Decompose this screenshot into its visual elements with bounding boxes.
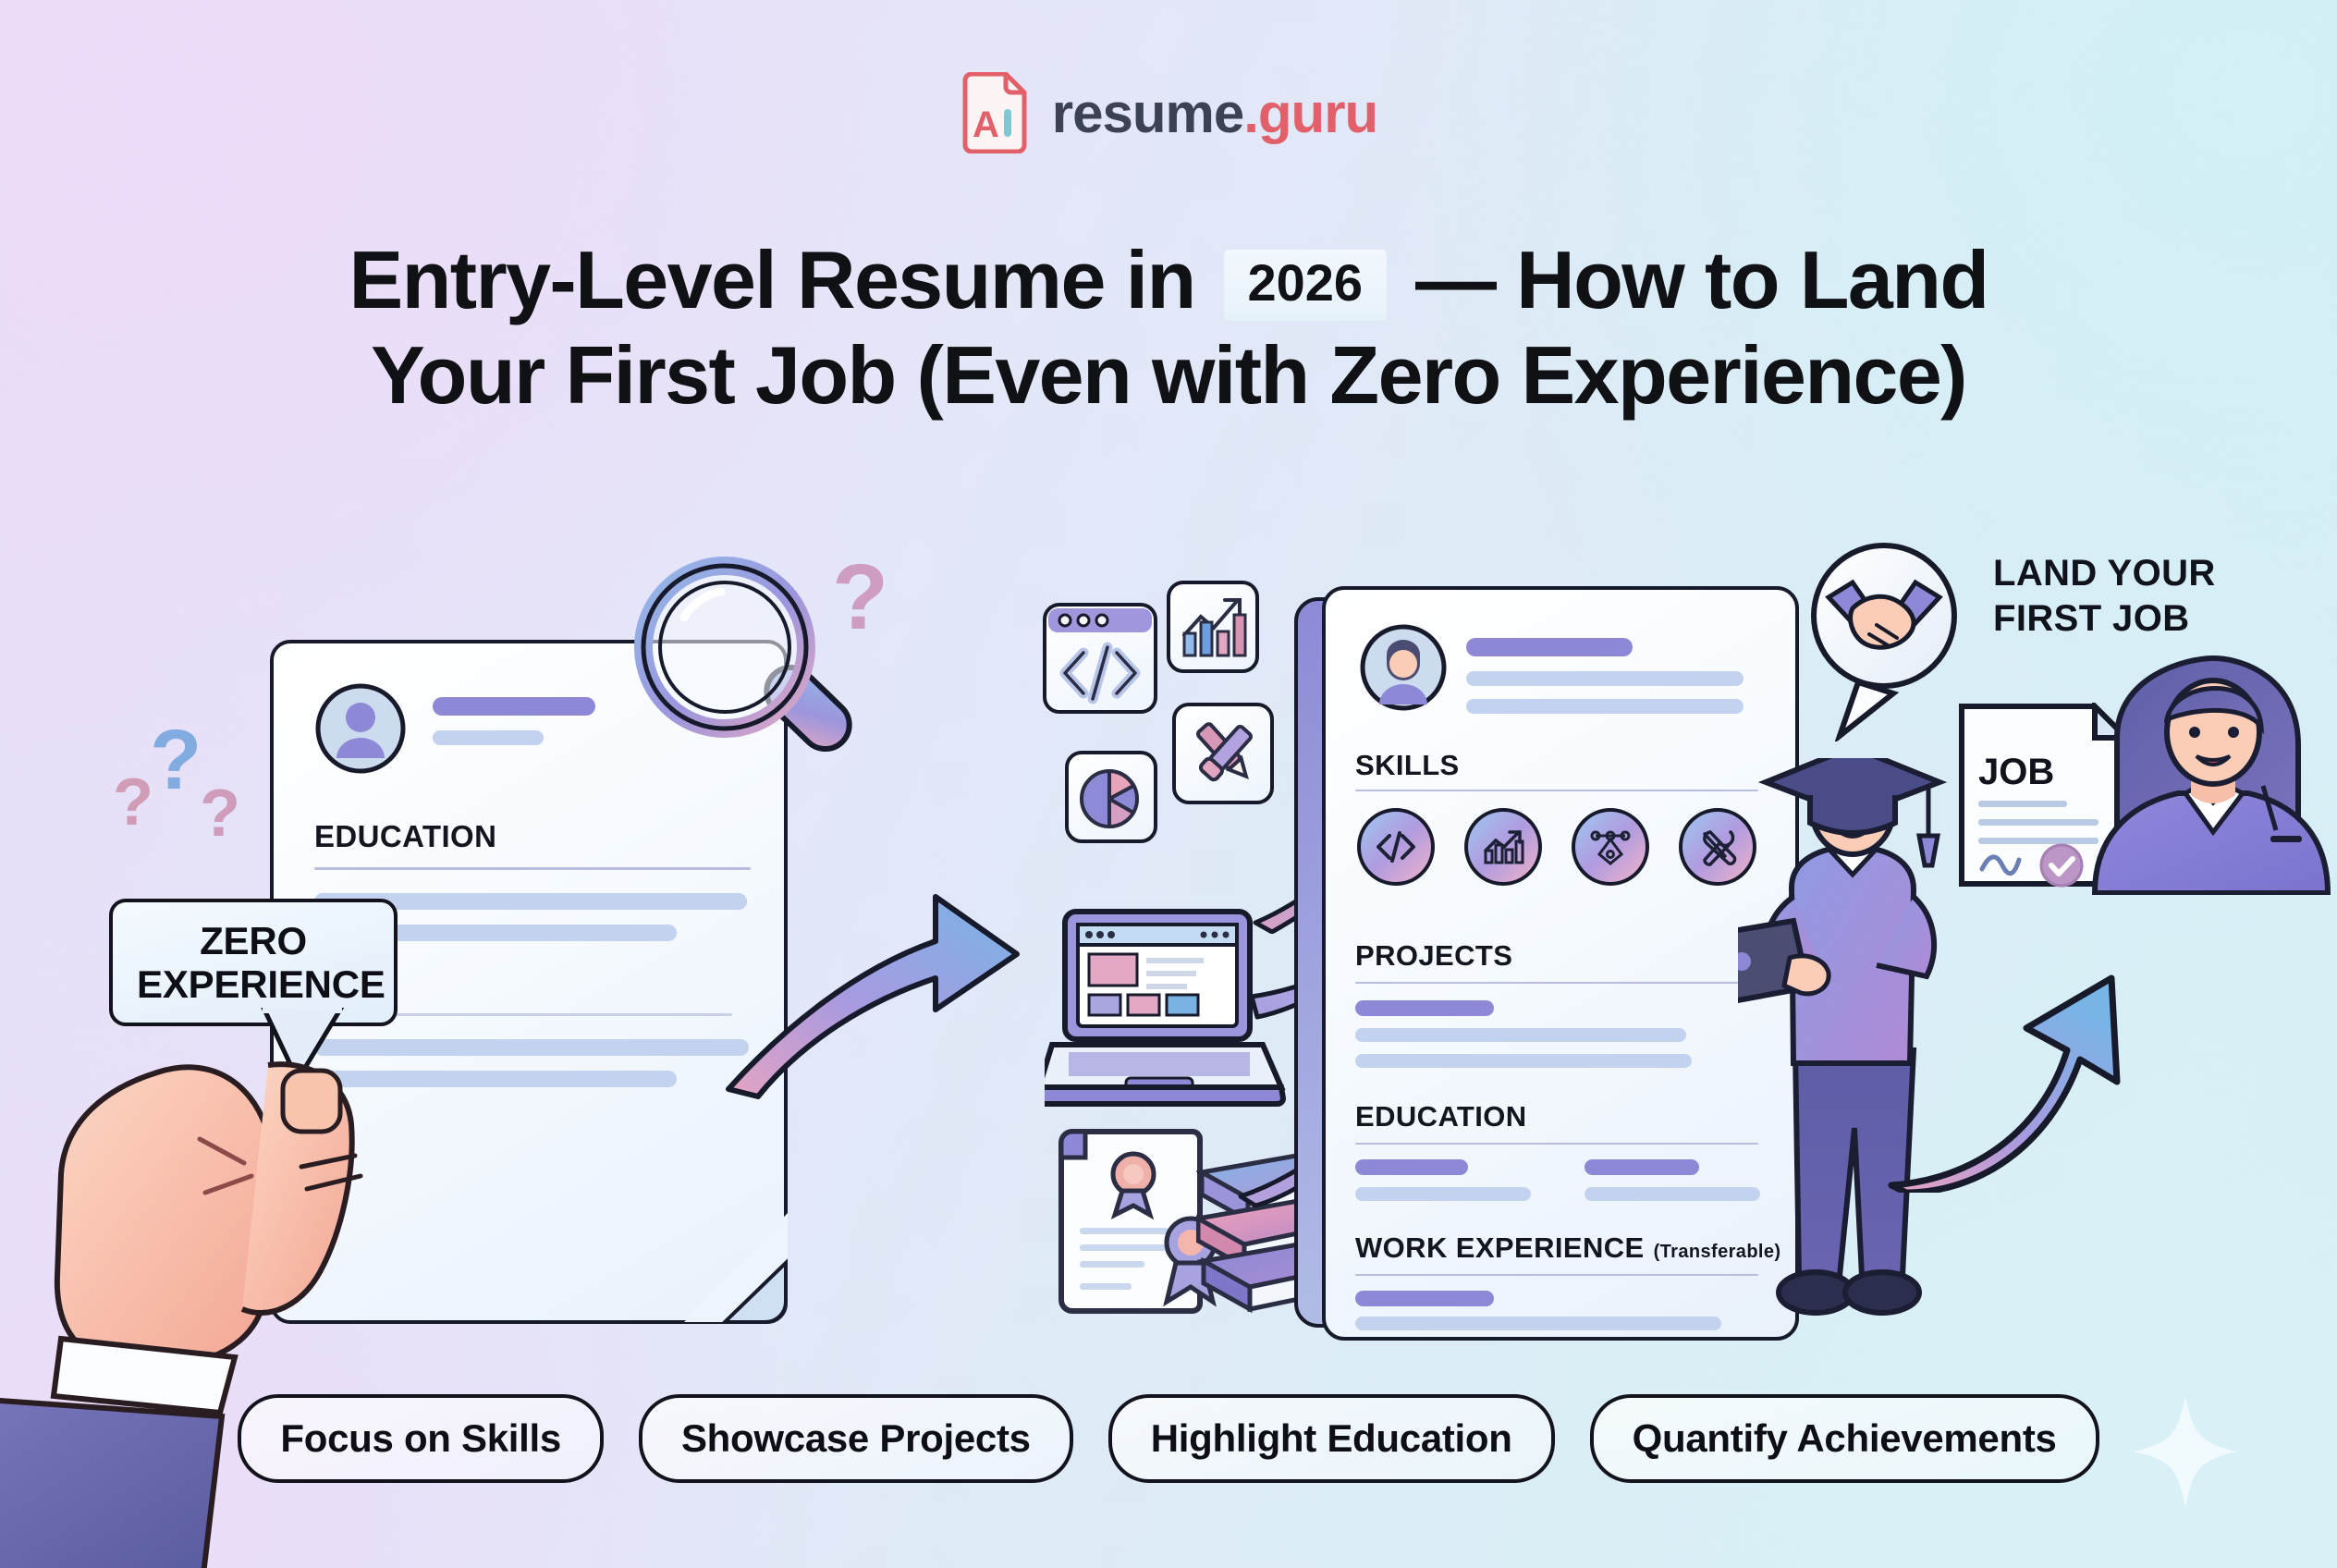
content-bar: [1355, 1317, 1721, 1330]
content-bar: [1355, 1000, 1494, 1016]
section-rule: [1355, 1143, 1758, 1145]
svg-text:A: A: [973, 104, 999, 145]
content-bar: [1585, 1159, 1699, 1175]
headline-part1: Entry-Level Resume in: [349, 234, 1194, 325]
avatar: [1359, 623, 1448, 717]
name-bar: [1466, 638, 1633, 656]
section-title-education: EDUCATION: [314, 819, 496, 854]
design-tools-icon: [1172, 703, 1274, 804]
year-badge: 2026: [1224, 250, 1388, 321]
section-rule: [1355, 982, 1758, 984]
land-your-first-job-label: LAND YOUR FIRST JOB: [1993, 551, 2216, 642]
takeaway-chips: Focus on Skills Showcase Projects Highli…: [0, 1394, 2337, 1483]
question-mark-icon: ?: [832, 551, 888, 643]
code-skill-icon: [1357, 808, 1435, 886]
headline-part2: — How to Land: [1415, 234, 1988, 325]
illustration-canvas: A resume.guru Entry-Level Resume in 2026…: [0, 0, 2337, 1568]
contact-bar: [1466, 699, 1744, 714]
page-title: Entry-Level Resume in 2026 — How to Land…: [0, 233, 2337, 423]
handshake-bubble-icon: [1801, 538, 1967, 746]
section-title-work-experience-row: WORK EXPERIENCE (Transferable): [1355, 1231, 1780, 1265]
brand-name: resume.guru: [1052, 81, 1377, 145]
content-bar: [1585, 1187, 1760, 1201]
section-title-education: EDUCATION: [1355, 1100, 1527, 1133]
ai-document-icon: A: [960, 72, 1028, 153]
pie-chart-icon: [1065, 751, 1157, 843]
design-skill-icon: [1572, 808, 1649, 886]
after-resume-document: SKILLS PROJECTS: [1322, 586, 1803, 1344]
section-title-work-experience: WORK EXPERIENCE: [1355, 1231, 1645, 1265]
growth-chart-icon: [1167, 581, 1259, 673]
name-bar: [433, 697, 595, 716]
section-title-projects: PROJECTS: [1355, 939, 1512, 973]
code-window-icon: [1043, 603, 1157, 714]
contact-bar: [1466, 671, 1744, 686]
recruiter-avatar-icon: [2089, 655, 2337, 900]
content-bar: [1355, 1291, 1494, 1306]
chip-quantify-achievements[interactable]: Quantify Achievements: [1590, 1394, 2099, 1483]
content-bar: [1355, 1159, 1468, 1175]
section-rule: [1355, 1274, 1758, 1276]
callout-line-1: ZERO: [137, 919, 370, 962]
upward-success-arrow: [1886, 860, 2126, 1197]
skill-icons-row: [1357, 808, 1756, 886]
section-rule: [1355, 790, 1758, 791]
content-bar: [1355, 1187, 1531, 1201]
section-rule: [314, 867, 751, 870]
outcome-line-2: FIRST JOB: [1993, 596, 2216, 642]
brand-name-primary: resume: [1052, 82, 1243, 144]
chip-showcase-projects[interactable]: Showcase Projects: [639, 1394, 1073, 1483]
outcome-line-1: LAND YOUR: [1993, 551, 2216, 596]
job-doc-title: JOB: [1978, 752, 2054, 792]
headline-line2: Your First Job (Even with Zero Experienc…: [371, 329, 1966, 421]
analytics-skill-icon: [1464, 808, 1542, 886]
page-fold-icon: [677, 1213, 788, 1324]
chip-highlight-education[interactable]: Highlight Education: [1108, 1394, 1555, 1483]
brand-logo[interactable]: A resume.guru: [0, 72, 2337, 153]
avatar: [314, 682, 407, 779]
content-bar: [1355, 1028, 1686, 1042]
chip-focus-on-skills[interactable]: Focus on Skills: [238, 1394, 604, 1483]
resume-front-page: SKILLS PROJECTS: [1322, 586, 1799, 1341]
content-bar: [1355, 1054, 1692, 1068]
brand-name-suffix: .guru: [1243, 82, 1377, 144]
curved-arrow-right: [712, 869, 1026, 1105]
section-title-skills: SKILLS: [1355, 749, 1460, 782]
contact-bar: [433, 730, 544, 745]
